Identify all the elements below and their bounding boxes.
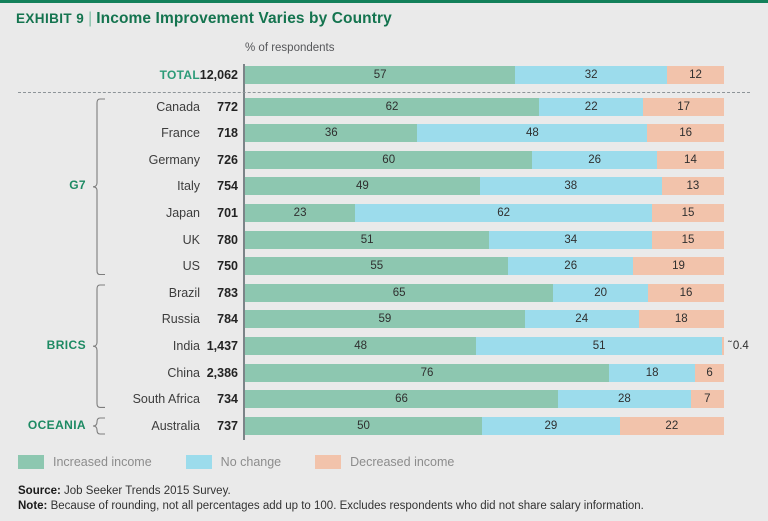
chart-row: Brazil783652016 — [0, 284, 768, 302]
legend-swatch-decreased — [315, 455, 341, 469]
bar-segment-increased[interactable]: 57 — [245, 66, 515, 84]
bar-segment-decreased[interactable]: 22 — [620, 417, 724, 435]
legend-item[interactable]: No change — [186, 455, 281, 469]
bar-segment-decreased[interactable]: 7 — [691, 390, 724, 408]
legend-swatch-increased — [18, 455, 44, 469]
footnote-source-label: Source: — [18, 485, 61, 497]
row-label: Canada — [100, 98, 200, 116]
bar-segment-nochange[interactable]: 62 — [355, 204, 652, 222]
bar-segment-decreased[interactable]: 16 — [647, 124, 724, 142]
row-respondent-count: 783 — [196, 284, 238, 302]
bar-segment-increased[interactable]: 66 — [245, 390, 558, 408]
row-respondent-count: 1,437 — [196, 337, 238, 355]
footnote-source: Source: Job Seeker Trends 2015 Survey. — [18, 484, 758, 499]
footnote-note-text: Because of rounding, not all percentages… — [51, 500, 644, 512]
bar-segment-decreased[interactable]: 12 — [667, 66, 724, 84]
row-respondent-count: 701 — [196, 204, 238, 222]
bar-segment-increased[interactable]: 62 — [245, 98, 539, 116]
bar-segment-nochange[interactable]: 38 — [480, 177, 662, 195]
bar-segment-nochange[interactable]: 32 — [515, 66, 667, 84]
bar-segment-decreased[interactable] — [722, 337, 724, 355]
legend-item[interactable]: Increased income — [18, 455, 152, 469]
bar-segment-nochange[interactable]: 28 — [558, 390, 691, 408]
stacked-bar[interactable]: 66287 — [245, 390, 724, 408]
bar-segment-increased[interactable]: 49 — [245, 177, 480, 195]
bar-segment-increased[interactable]: 36 — [245, 124, 417, 142]
title-headline: Income Improvement Varies by Country — [96, 10, 392, 27]
row-label: France — [100, 124, 200, 142]
legend-swatch-nochange — [186, 455, 212, 469]
chart-row: Germany726602614 — [0, 151, 768, 169]
chart-row: Russia784592418 — [0, 310, 768, 328]
chart-row: China2,38676186 — [0, 364, 768, 382]
chart-row: Australia737502922 — [0, 417, 768, 435]
row-respondent-count: 737 — [196, 417, 238, 435]
row-label: US — [100, 257, 200, 275]
bar-segment-decreased[interactable]: 17 — [643, 98, 724, 116]
chart-row: France718364816 — [0, 124, 768, 142]
stacked-bar[interactable]: 622217 — [245, 98, 724, 116]
row-respondent-count: 734 — [196, 390, 238, 408]
bar-segment-nochange[interactable]: 51 — [476, 337, 722, 355]
stacked-bar[interactable]: 4851 — [245, 337, 724, 355]
group-label: BRICS — [8, 338, 86, 352]
chart-legend: Increased incomeNo changeDecreased incom… — [18, 452, 488, 472]
chart-row: US750552619 — [0, 257, 768, 275]
row-respondent-count: 718 — [196, 124, 238, 142]
stacked-bar[interactable]: 573212 — [245, 66, 724, 84]
footnotes: Source: Job Seeker Trends 2015 Survey. N… — [18, 484, 758, 514]
row-respondent-count: 12,062 — [196, 66, 238, 84]
stacked-bar[interactable]: 76186 — [245, 364, 724, 382]
bar-segment-nochange[interactable]: 22 — [539, 98, 643, 116]
group-label: OCEANIA — [8, 418, 86, 432]
bar-segment-decreased[interactable]: 6 — [695, 364, 724, 382]
bar-segment-increased[interactable]: 76 — [245, 364, 609, 382]
row-label: Russia — [100, 310, 200, 328]
legend-label: Decreased income — [350, 455, 454, 469]
chart-row: Italy754493813 — [0, 177, 768, 195]
row-respondent-count: 726 — [196, 151, 238, 169]
chart-row: India1,4374851˜0.4 — [0, 337, 768, 355]
total-separator-line — [18, 92, 750, 93]
callout-value: 0.4 — [733, 340, 749, 352]
bar-segment-nochange[interactable]: 24 — [525, 310, 639, 328]
row-respondent-count: 780 — [196, 231, 238, 249]
chart-row-total: TOTAL12,062573212 — [0, 66, 768, 84]
bar-segment-increased[interactable]: 48 — [245, 337, 476, 355]
bar-segment-nochange[interactable]: 26 — [508, 257, 633, 275]
stacked-bar[interactable]: 552619 — [245, 257, 724, 275]
row-respondent-count: 754 — [196, 177, 238, 195]
axis-caption: % of respondents — [245, 42, 335, 54]
group-brace — [92, 417, 106, 440]
stacked-bar[interactable]: 652016 — [245, 284, 724, 302]
row-respondent-count: 2,386 — [196, 364, 238, 382]
legend-label: No change — [221, 455, 281, 469]
row-label: Australia — [100, 417, 200, 435]
bar-segment-nochange[interactable]: 29 — [482, 417, 620, 435]
bar-segment-increased[interactable]: 60 — [245, 151, 532, 169]
row-label: TOTAL — [100, 66, 200, 84]
value-callout: ˜0.4 — [728, 337, 749, 355]
row-respondent-count: 772 — [196, 98, 238, 116]
value-axis-line — [243, 64, 245, 440]
footnote-note: Note: Because of rounding, not all perce… — [18, 499, 758, 514]
row-label: South Africa — [100, 390, 200, 408]
row-respondent-count: 784 — [196, 310, 238, 328]
stacked-bar[interactable]: 502922 — [245, 417, 724, 435]
bar-segment-increased[interactable]: 59 — [245, 310, 525, 328]
chart-row: UK780513415 — [0, 231, 768, 249]
bar-segment-nochange[interactable]: 20 — [553, 284, 648, 302]
bar-segment-decreased[interactable]: 13 — [662, 177, 724, 195]
bar-segment-decreased[interactable]: 18 — [639, 310, 724, 328]
footnote-note-label: Note: — [18, 500, 47, 512]
bar-segment-decreased[interactable]: 15 — [652, 231, 724, 249]
group-label: G7 — [8, 178, 86, 192]
group-brace — [92, 98, 106, 281]
footnote-source-text: Job Seeker Trends 2015 Survey. — [64, 485, 231, 497]
row-label: Germany — [100, 151, 200, 169]
legend-label: Increased income — [53, 455, 152, 469]
row-respondent-count: 750 — [196, 257, 238, 275]
bar-segment-increased[interactable]: 55 — [245, 257, 508, 275]
stacked-bar[interactable]: 364816 — [245, 124, 724, 142]
row-label: Brazil — [100, 284, 200, 302]
stacked-bar[interactable]: 493813 — [245, 177, 724, 195]
bar-segment-increased[interactable]: 23 — [245, 204, 355, 222]
stacked-bar[interactable]: 236215 — [245, 204, 724, 222]
group-brace — [92, 284, 106, 413]
bar-segment-decreased[interactable]: 16 — [648, 284, 724, 302]
row-label: India — [100, 337, 200, 355]
title-divider: | — [84, 10, 96, 27]
bar-segment-decreased[interactable]: 14 — [657, 151, 724, 169]
chart-row: South Africa73466287 — [0, 390, 768, 408]
bar-segment-increased[interactable]: 51 — [245, 231, 489, 249]
exhibit-label: EXHIBIT 9 — [16, 11, 84, 26]
bar-segment-nochange[interactable]: 26 — [532, 151, 657, 169]
row-label: Italy — [100, 177, 200, 195]
stacked-bar-chart: TOTAL12,062573212Canada772622217France71… — [0, 60, 768, 442]
stacked-bar[interactable]: 602614 — [245, 151, 724, 169]
bar-segment-nochange[interactable]: 34 — [489, 231, 652, 249]
chart-row: Japan701236215 — [0, 204, 768, 222]
row-label: Japan — [100, 204, 200, 222]
title-bar: EXHIBIT 9|Income Improvement Varies by C… — [0, 0, 768, 34]
bar-segment-increased[interactable]: 65 — [245, 284, 553, 302]
legend-item[interactable]: Decreased income — [315, 455, 454, 469]
page-title: EXHIBIT 9|Income Improvement Varies by C… — [16, 10, 392, 28]
row-label: China — [100, 364, 200, 382]
stacked-bar[interactable]: 513415 — [245, 231, 724, 249]
bar-segment-nochange[interactable]: 48 — [417, 124, 647, 142]
bar-segment-nochange[interactable]: 18 — [609, 364, 695, 382]
bar-segment-increased[interactable]: 50 — [245, 417, 482, 435]
bar-segment-decreased[interactable]: 15 — [652, 204, 724, 222]
row-label: UK — [100, 231, 200, 249]
bar-segment-decreased[interactable]: 19 — [633, 257, 724, 275]
chart-row: Canada772622217 — [0, 98, 768, 116]
stacked-bar[interactable]: 592418 — [245, 310, 724, 328]
